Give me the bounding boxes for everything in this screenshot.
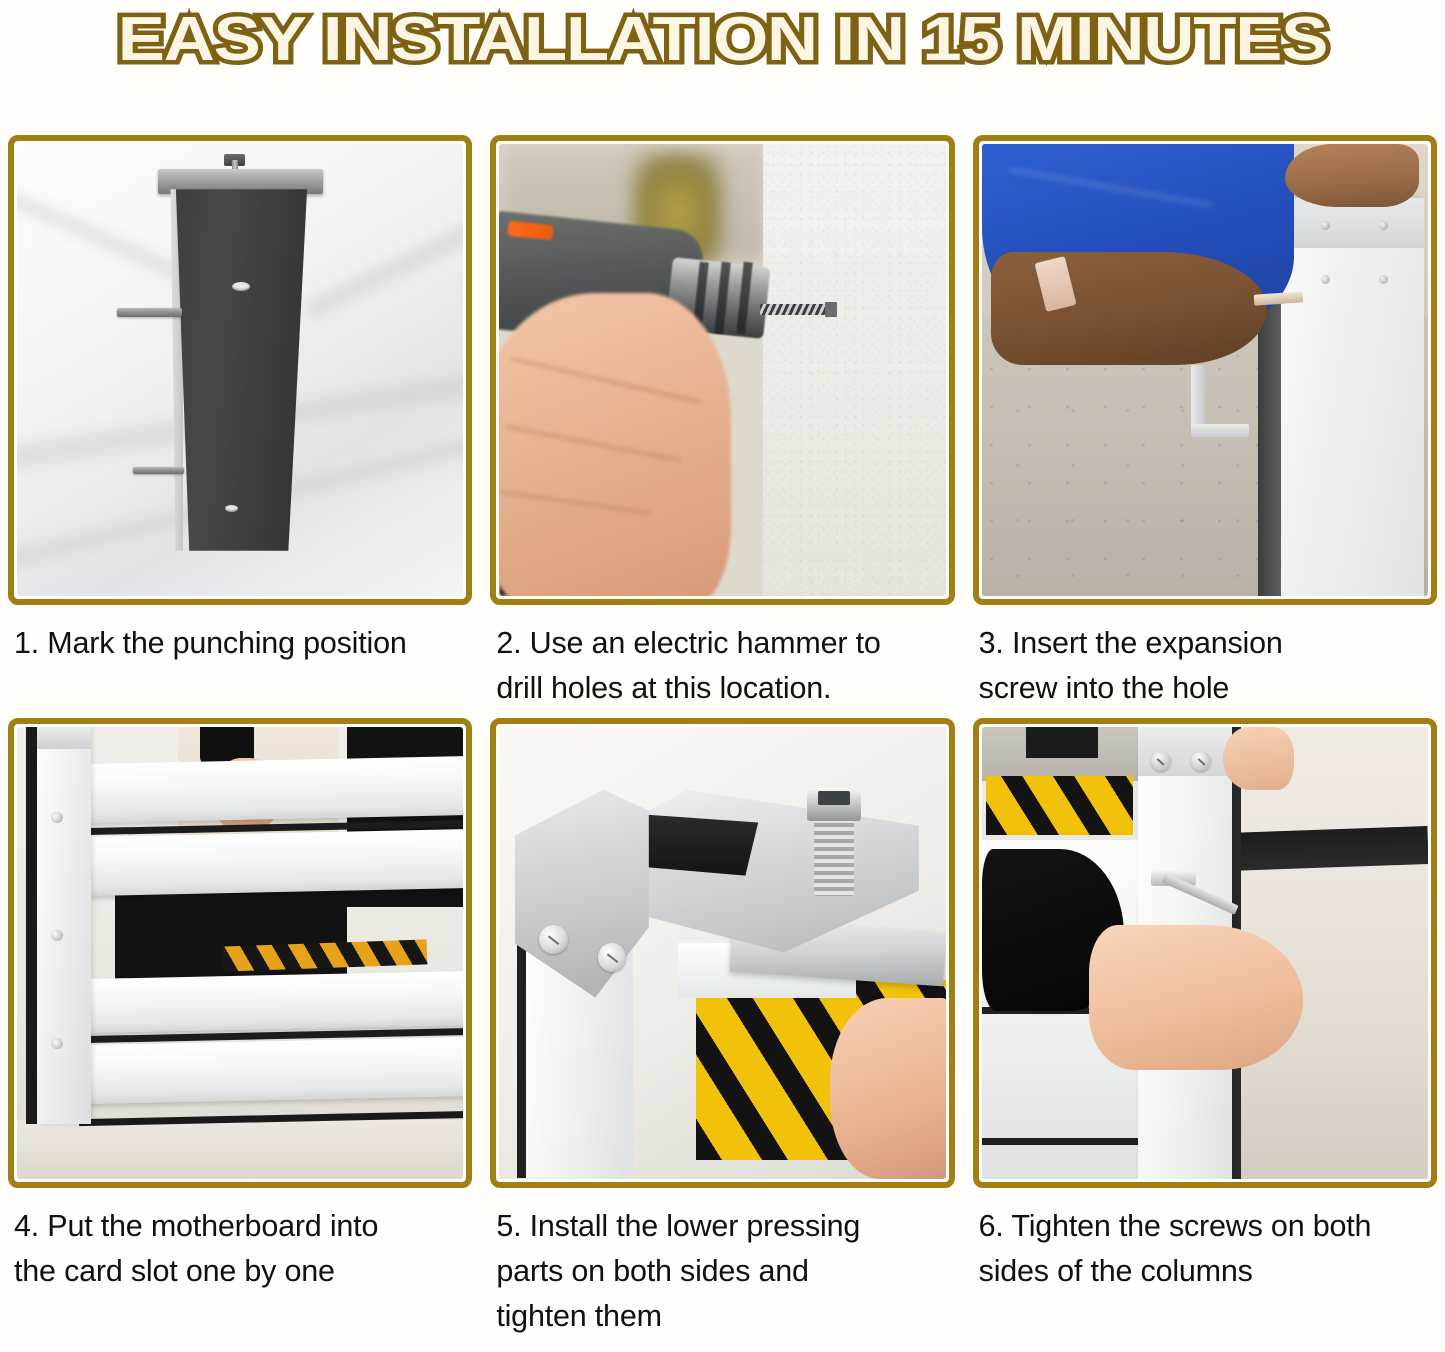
cloth-fold <box>303 186 463 321</box>
caption-line: 3. Insert the expansion <box>979 621 1427 666</box>
caption-line: the card slot one by one <box>14 1249 462 1294</box>
bolt-thread <box>814 819 854 896</box>
step-2: 2. Use an electric hammer to drill holes… <box>490 135 954 718</box>
step-1: 1. Mark the punching position <box>8 135 472 718</box>
wall-surface <box>763 144 946 596</box>
page-title: EASY INSTALLATION IN 15 MINUTES <box>118 9 1328 71</box>
caption-line: 4. Put the motherboard into <box>14 1204 462 1249</box>
drill-bit-tip <box>825 302 837 317</box>
post-screw <box>51 812 63 823</box>
marking-pin <box>117 308 182 317</box>
step-3-caption: 3. Insert the expansion screw into the h… <box>973 621 1437 711</box>
step-6-photo-frame <box>973 718 1437 1188</box>
column-screw <box>1321 221 1330 230</box>
hex-socket-icon <box>818 791 849 805</box>
step-1-photo-frame <box>8 135 472 605</box>
allen-wrench <box>1191 365 1204 433</box>
marking-pin <box>133 467 184 474</box>
step-4-caption: 4. Put the motherboard into the card slo… <box>8 1204 472 1294</box>
marking-template-photo <box>17 144 463 596</box>
hand <box>1285 144 1419 207</box>
step-5: 5. Install the lower pressing parts on b… <box>490 718 954 1346</box>
caption-line: parts on both sides and <box>496 1249 944 1294</box>
barrier-board <box>88 829 463 896</box>
caption-line: sides of the columns <box>979 1249 1427 1294</box>
caption-line: drill holes at this location. <box>496 666 944 711</box>
post-screw <box>51 930 63 941</box>
phillips-screw <box>1151 751 1171 771</box>
step-2-caption: 2. Use an electric hammer to drill holes… <box>490 621 954 711</box>
step-6-caption: 6. Tighten the screws on both sides of t… <box>973 1204 1437 1294</box>
column-screw <box>1379 275 1388 284</box>
steps-grid: 1. Mark the punching position <box>8 135 1437 1345</box>
hazard-stripe <box>222 940 428 972</box>
step-2-photo-frame <box>490 135 954 605</box>
lower-pressing-parts-photo <box>499 727 945 1179</box>
floor <box>17 1120 463 1179</box>
column-cap <box>37 727 91 750</box>
column-screw <box>1321 275 1330 284</box>
barrier-board <box>88 971 463 1033</box>
step-3: 3. Insert the expansion screw into the h… <box>973 135 1437 718</box>
step-3-photo-frame <box>973 135 1437 605</box>
step-4: 4. Put the motherboard into the card slo… <box>8 718 472 1346</box>
drill-bit <box>760 304 831 316</box>
title-banner: EASY INSTALLATION IN 15 MINUTES <box>0 0 1445 78</box>
column-post <box>1281 198 1424 596</box>
post-screw <box>51 1038 63 1049</box>
infographic-page: EASY INSTALLATION IN 15 MINUTES <box>0 0 1445 1352</box>
caption-line: 2. Use an electric hammer to <box>496 621 944 666</box>
template-plate <box>173 189 307 551</box>
column-screw <box>1379 221 1388 230</box>
motherboard-slot-photo <box>17 727 463 1179</box>
drilling-wall-photo <box>499 144 945 596</box>
dark-background <box>1026 727 1097 759</box>
caption-line: 5. Install the lower pressing <box>496 1204 944 1249</box>
column-post <box>37 727 91 1125</box>
tighten-column-screws-photo <box>982 727 1428 1179</box>
caption-line: 1. Mark the punching position <box>14 621 462 666</box>
step-4-photo-frame <box>8 718 472 1188</box>
template-hole <box>225 505 238 512</box>
caption-line: screw into the hole <box>979 666 1427 711</box>
step-5-photo-frame <box>490 718 954 1188</box>
hand <box>1089 925 1303 1070</box>
step-6: 6. Tighten the screws on both sides of t… <box>973 718 1437 1346</box>
caption-line: tighten them <box>496 1294 944 1339</box>
caption-line: 6. Tighten the screws on both <box>979 1204 1427 1249</box>
step-5-caption: 5. Install the lower pressing parts on b… <box>490 1204 954 1339</box>
allen-wrench-arm <box>1191 424 1249 437</box>
hand <box>499 293 731 596</box>
expansion-screw-photo <box>982 144 1428 596</box>
barrier-board <box>88 756 463 823</box>
column-cap <box>1138 727 1232 777</box>
hand <box>1223 727 1294 790</box>
barrier-board <box>88 1037 463 1104</box>
step-1-caption: 1. Mark the punching position <box>8 621 472 666</box>
forearm <box>991 252 1268 365</box>
board-seam <box>982 1138 1143 1145</box>
hand <box>830 998 946 1179</box>
hazard-stripe <box>986 776 1133 835</box>
